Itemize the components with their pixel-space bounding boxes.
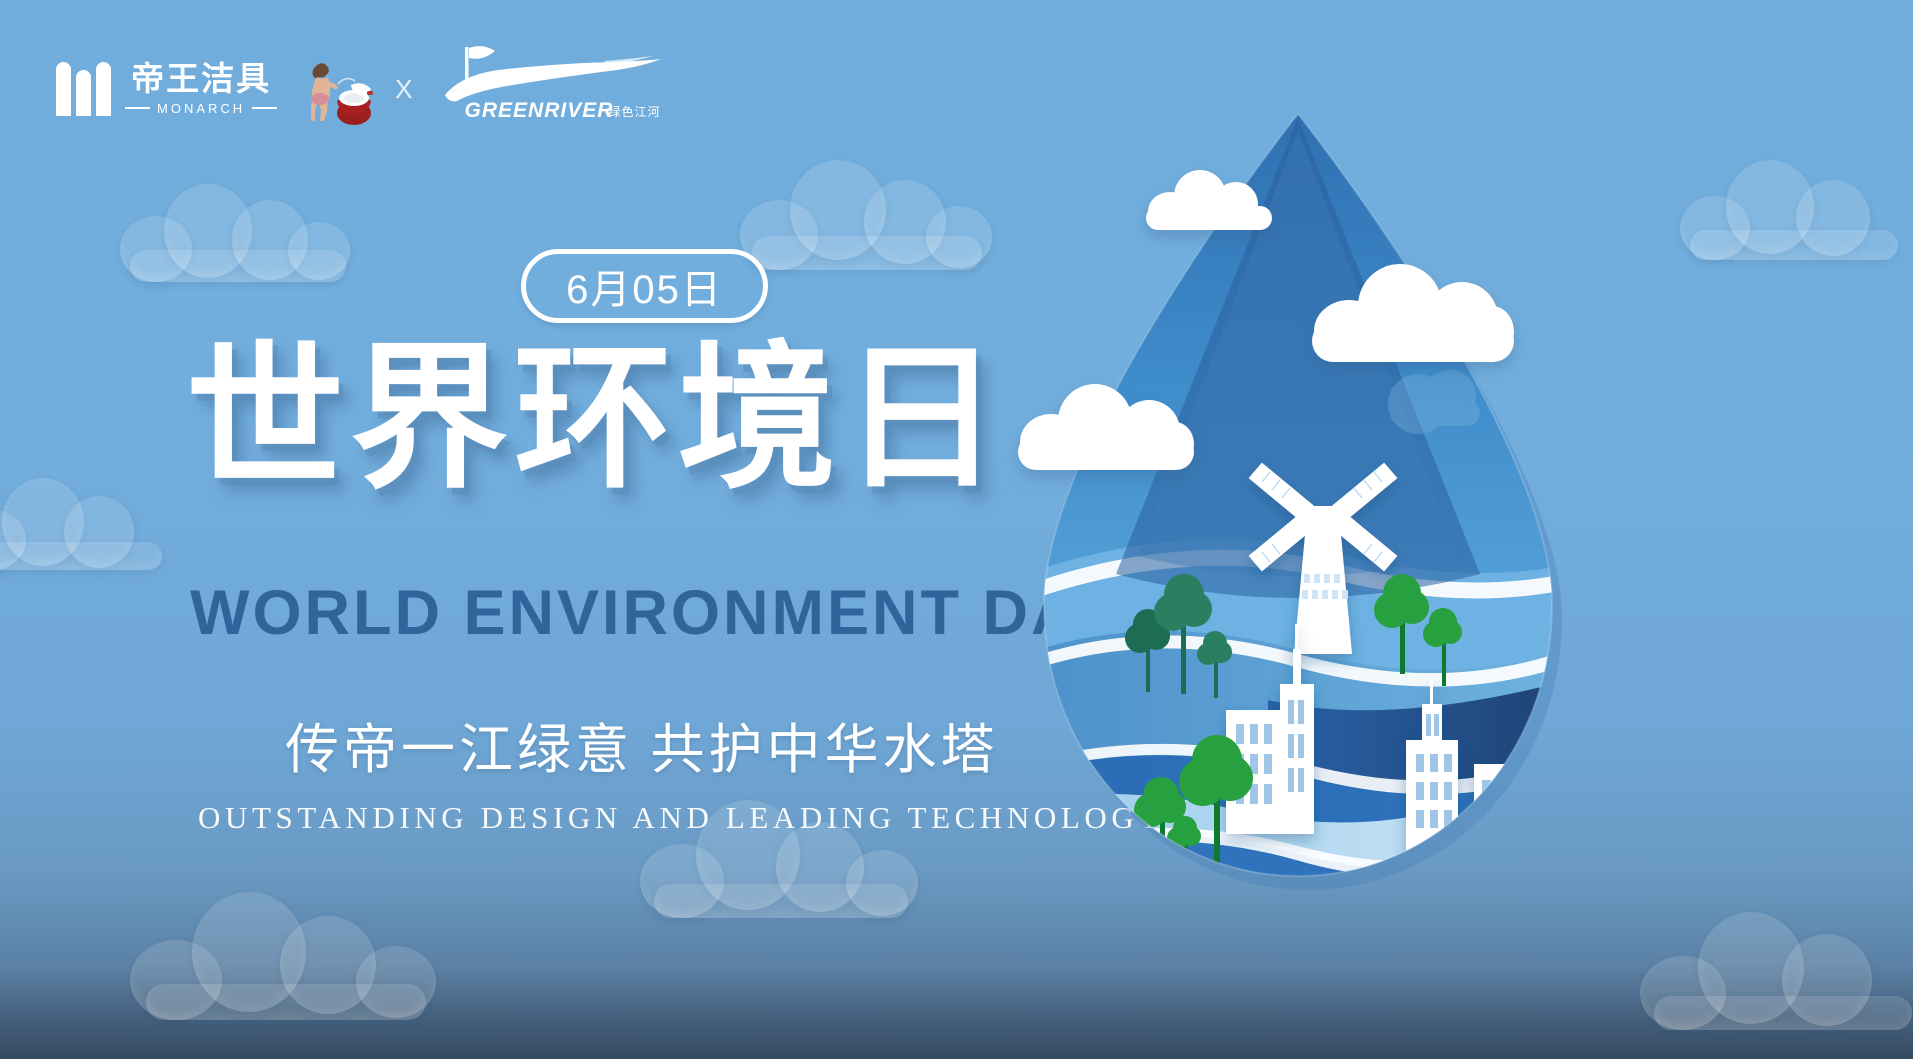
greenriver-cn-name: 绿色江河 xyxy=(609,103,661,120)
water-droplet-illustration xyxy=(1018,104,1578,894)
monarch-en-name: MONARCH xyxy=(157,101,245,116)
monarch-cn-name: 帝王洁具 xyxy=(131,62,271,97)
logo-rule-right xyxy=(252,107,277,109)
background-cloud-icon xyxy=(740,150,1010,270)
greenriver-flag-swoosh-icon: GREENRIVER 绿色江河 xyxy=(437,49,667,129)
page-title-cn: 世界环境日 xyxy=(186,340,1006,498)
brand-logo-bar: 帝王洁具 MONARCH xyxy=(56,46,667,132)
background-cloud-icon xyxy=(0,470,190,570)
background-cloud-icon xyxy=(130,880,460,1020)
toilet-product-photo xyxy=(291,51,377,127)
droplet-scene xyxy=(1018,104,1578,894)
background-cloud-icon xyxy=(1680,150,1913,260)
page-title-en: WORLD ENVIRONMENT DAY xyxy=(190,577,1119,649)
monarch-en-row: MONARCH xyxy=(125,101,277,116)
monarch-crown-mark-icon xyxy=(56,62,111,116)
background-cloud-icon xyxy=(120,170,380,280)
tagline-cn: 传帝一江绿意 共护中华水塔 xyxy=(285,705,999,784)
world-environment-day-banner: 帝王洁具 MONARCH xyxy=(0,0,1913,1059)
greenriver-en-name: GREENRIVER xyxy=(465,99,614,123)
logo-rule-left xyxy=(125,107,150,109)
date-badge-text: 6月05日 xyxy=(566,257,723,315)
date-badge: 6月05日 xyxy=(521,249,768,323)
background-cloud-icon xyxy=(1640,900,1913,1030)
logo-separator: X xyxy=(395,74,412,105)
monarch-logo-text: 帝王洁具 MONARCH xyxy=(125,62,277,116)
